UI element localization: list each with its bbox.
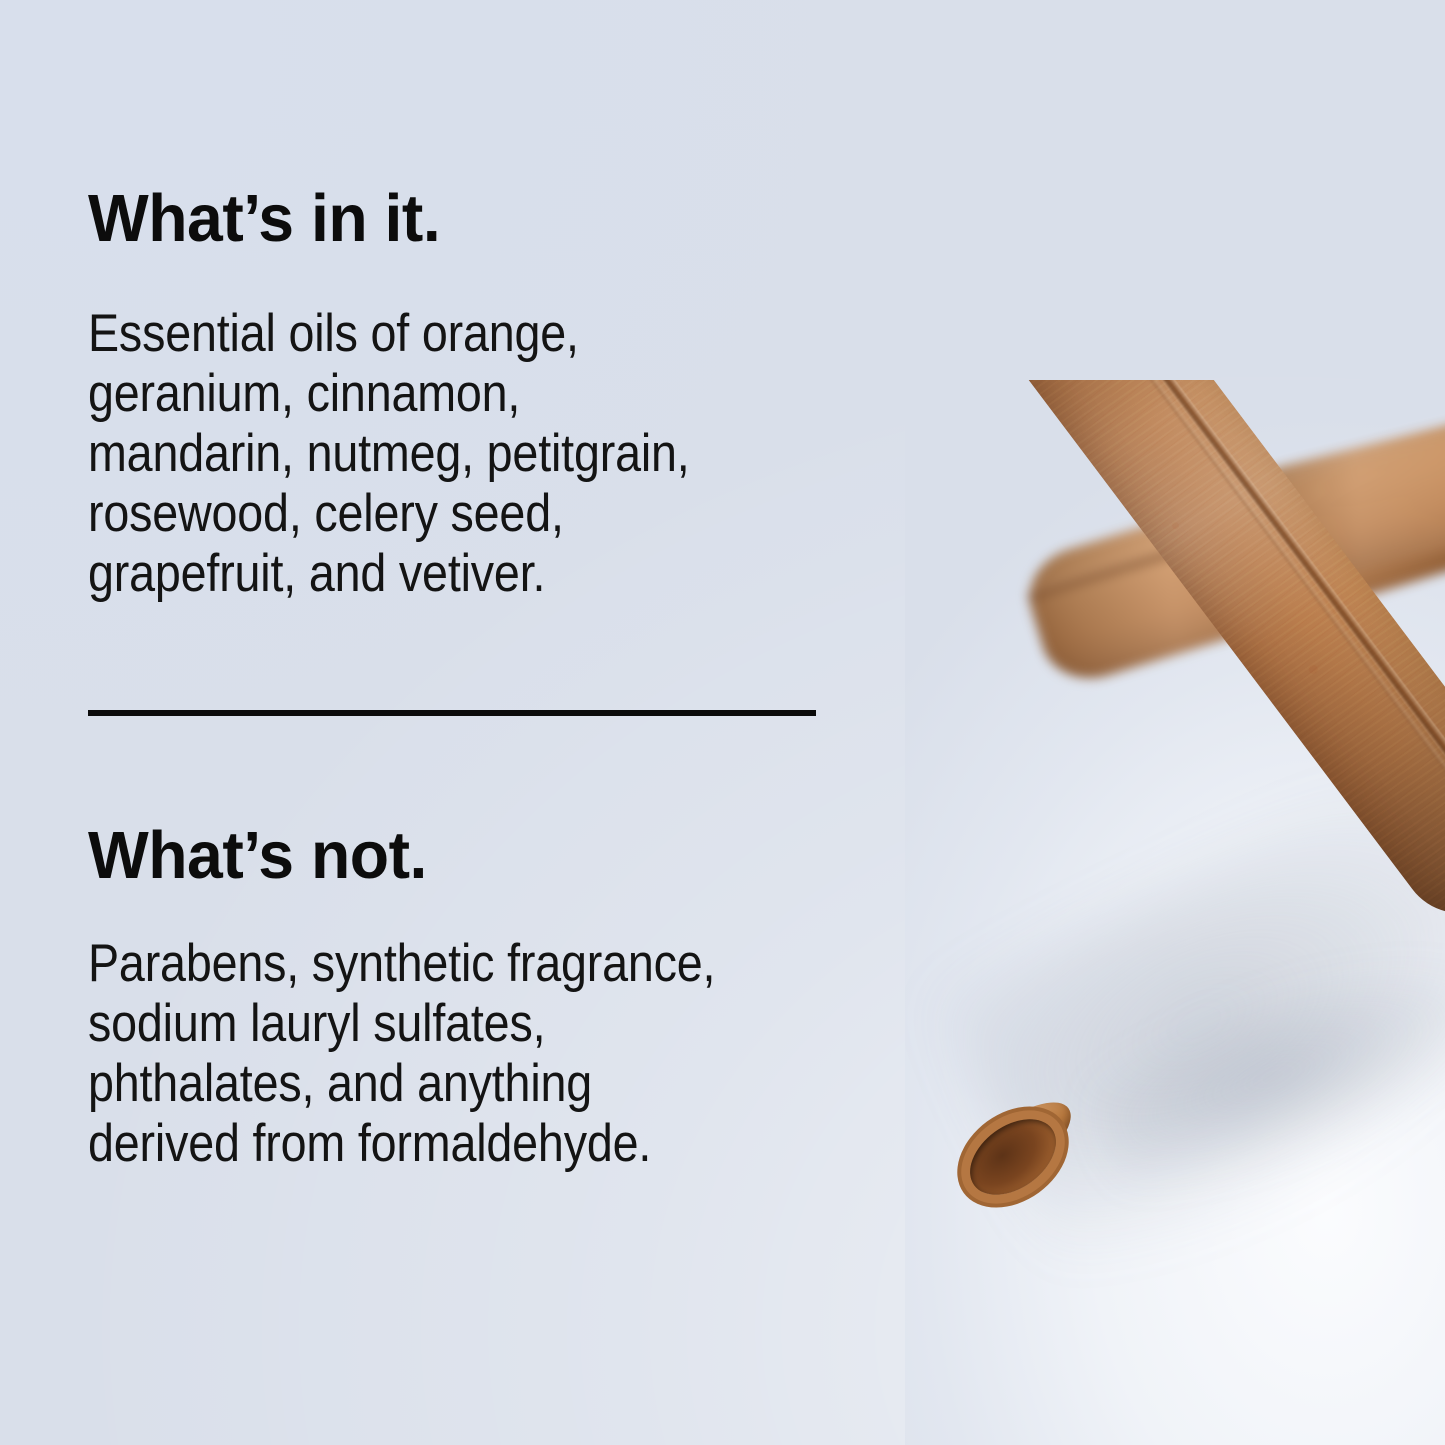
product-ingredients-panel: What’s in it. Essential oils of orange, …	[0, 0, 1445, 1445]
heading-whats-in-it: What’s in it.	[88, 185, 440, 252]
section-divider	[88, 710, 816, 716]
body-whats-not: Parabens, synthetic fragrance, sodium la…	[88, 934, 1021, 1174]
copy-column: What’s in it. Essential oils of orange, …	[88, 0, 988, 1445]
heading-whats-not: What’s not.	[88, 822, 427, 889]
body-whats-in-it: Essential oils of orange, geranium, cinn…	[88, 304, 977, 604]
